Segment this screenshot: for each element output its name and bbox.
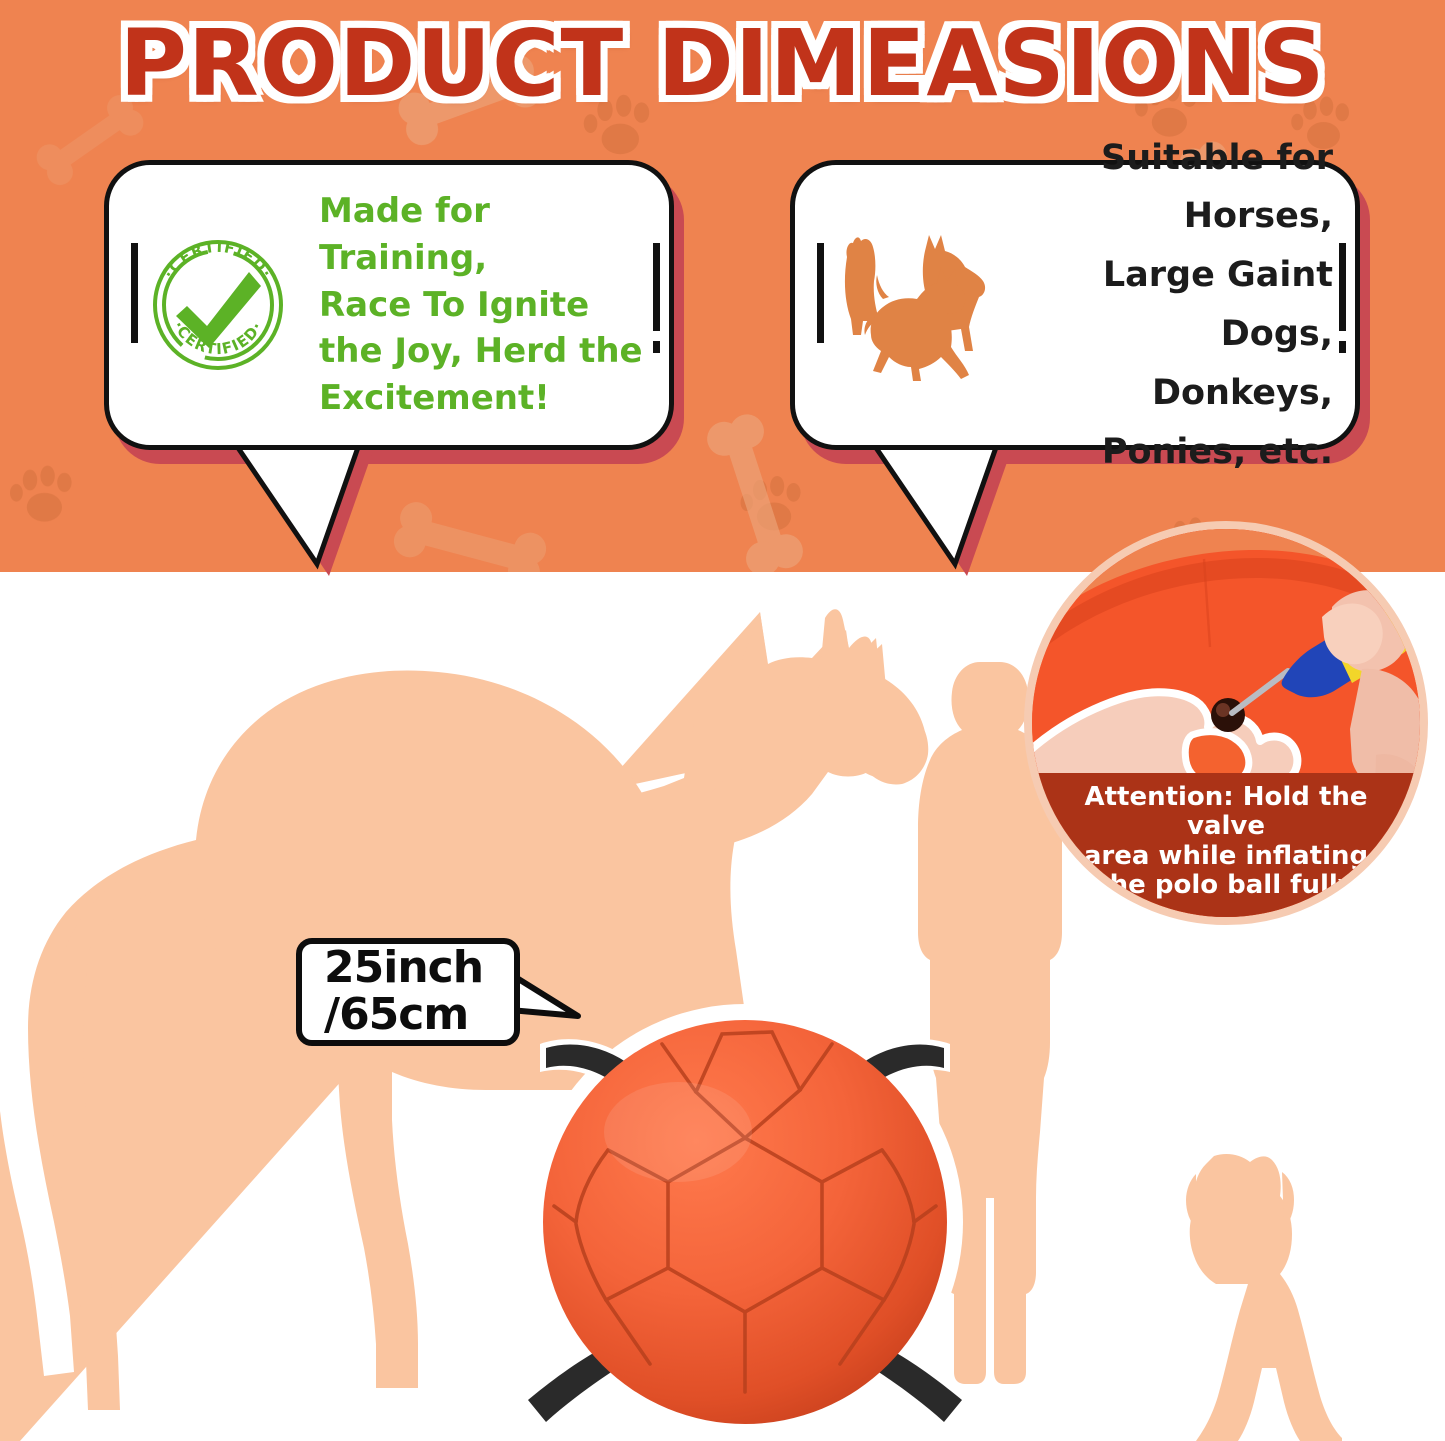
size-value-cm: /65cm	[324, 992, 514, 1039]
bubble-suitable-box: Suitable for Horses, Large Gaint Dogs, D…	[790, 160, 1360, 450]
svg-text:·CERTIFIED·: ·CERTIFIED·	[160, 238, 277, 282]
size-value-inches: 25inch	[324, 945, 514, 992]
bubble-training-line-4: Excitement!	[319, 375, 647, 422]
bubble-training-line-1: Made for Training,	[319, 188, 647, 282]
page-title: PRODUCT DIMEASIONS	[0, 10, 1445, 117]
quote-bracket-right-dot-icon	[1339, 341, 1346, 353]
horses-donkey-dog-silhouette-icon	[829, 223, 994, 388]
quote-bracket-right-icon	[653, 243, 660, 331]
bubble-suitable-line-2: Large Gaint Dogs,	[1004, 246, 1333, 364]
size-callout: 25inch /65cm	[296, 938, 520, 1046]
valve-hole-icon	[1211, 698, 1245, 732]
attention-line-3: the polo ball fully	[1046, 871, 1406, 901]
quote-bracket-left-icon	[131, 243, 138, 343]
quote-bracket-right-icon	[1339, 243, 1346, 331]
bubble-suitable-line-1: Suitable for Horses,	[1004, 129, 1333, 247]
size-callout-box: 25inch /65cm	[296, 938, 520, 1046]
certified-check-badge-icon: ·CERTIFIED· ·CERTIFIED·	[143, 230, 293, 380]
polo-ball-product	[510, 1000, 980, 1441]
bubble-training: ·CERTIFIED· ·CERTIFIED· Made for Trainin…	[104, 160, 674, 450]
bubble-suitable-line-3: Donkeys, Ponies, etc.	[1004, 364, 1333, 482]
bubble-tail-training	[212, 436, 382, 566]
bubble-training-line-2: Race To Ignite	[319, 282, 647, 329]
attention-line-2: area while inflating	[1046, 842, 1406, 872]
inflation-attention-banner: Attention: Hold the valve area while inf…	[1032, 773, 1420, 918]
bubble-suitable: Suitable for Horses, Large Gaint Dogs, D…	[790, 160, 1360, 450]
bubble-training-box: ·CERTIFIED· ·CERTIFIED· Made for Trainin…	[104, 160, 674, 450]
dog-silhouette	[1186, 1154, 1342, 1441]
attention-line-1: Attention: Hold the valve	[1046, 783, 1406, 842]
bubble-training-line-3: the Joy, Herd the	[319, 328, 647, 375]
quote-bracket-right-dot-icon	[653, 341, 660, 353]
quote-bracket-left-icon	[817, 243, 824, 343]
inflation-instruction-inset: Attention: Hold the valve area while inf…	[1024, 521, 1428, 925]
product-dimensions-infographic: PRODUCT DIMEASIONS	[0, 0, 1445, 1441]
